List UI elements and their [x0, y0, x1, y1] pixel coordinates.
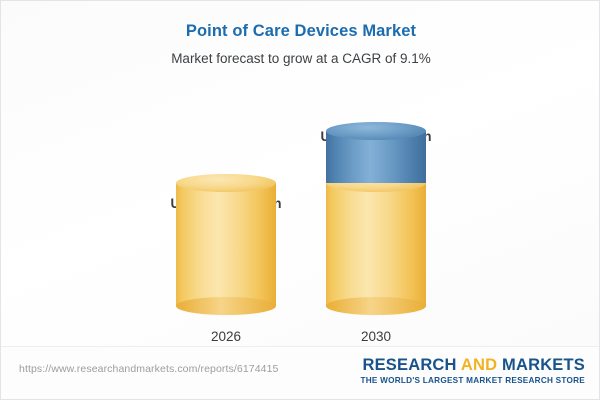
logo-word-markets: MARKETS: [502, 356, 585, 374]
logo-tagline: THE WORLD'S LARGEST MARKET RESEARCH STOR…: [361, 376, 585, 385]
plot-area: USD 34.44 Billion 2026 USD 48.88 Billion: [1, 86, 600, 346]
bar-segment-growth-2030: [326, 131, 426, 183]
chart-header: Point of Care Devices Market Market fore…: [1, 1, 600, 68]
chart-card: Point of Care Devices Market Market fore…: [0, 0, 600, 400]
logo-wordmark: RESEARCH AND MARKETS: [361, 356, 585, 375]
bar-segment-bottom-cap: [176, 297, 276, 315]
bar-segment-base-2026: [176, 183, 276, 306]
logo-word-research: RESEARCH: [362, 356, 456, 374]
category-label-2026: 2026: [156, 329, 296, 344]
logo-word-and: AND: [461, 356, 497, 374]
bar-group-2026: USD 34.44 Billion 2026: [156, 86, 296, 346]
bar-segment-body: [176, 183, 276, 306]
bar-cylinder-2030: [326, 131, 426, 306]
bar-segment-bottom-cap: [326, 297, 426, 315]
chart-title: Point of Care Devices Market: [1, 21, 600, 41]
category-label-2030: 2030: [306, 329, 446, 344]
bar-group-2030: USD 48.88 Billion 2030: [306, 86, 446, 346]
source-url[interactable]: https://www.researchandmarkets.com/repor…: [19, 363, 278, 375]
chart-subtitle: Market forecast to grow at a CAGR of 9.1…: [1, 50, 600, 68]
bar-segment-top-ellipse: [326, 122, 426, 140]
bar-segment-base-2030: [326, 183, 426, 306]
bar-segment-body: [326, 183, 426, 306]
bar-segment-top-ellipse: [176, 174, 276, 192]
research-and-markets-logo[interactable]: RESEARCH AND MARKETS THE WORLD'S LARGEST…: [361, 356, 585, 385]
chart-footer: https://www.researchandmarkets.com/repor…: [1, 346, 600, 399]
bar-cylinder-2026: [176, 183, 276, 306]
